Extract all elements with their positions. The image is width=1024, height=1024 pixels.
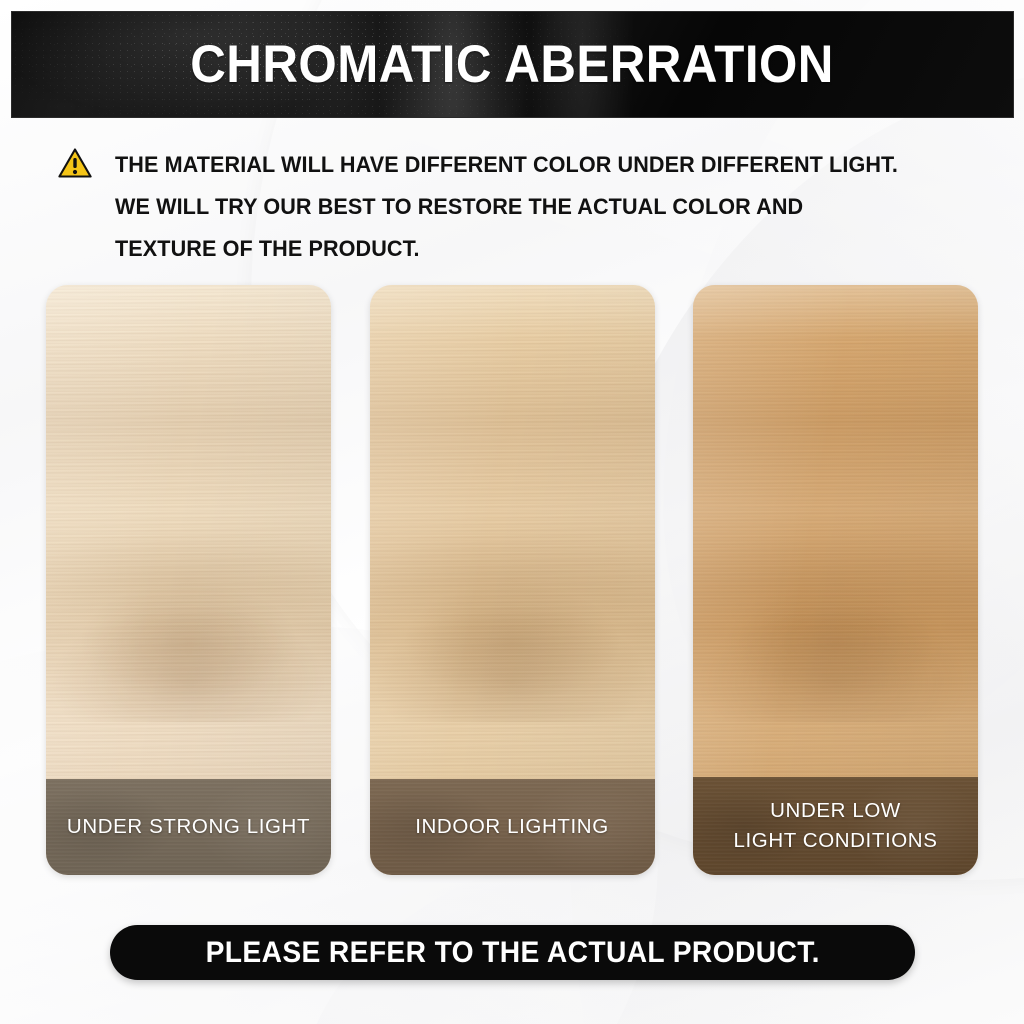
footer-callout-pill: PLEASE REFER TO THE ACTUAL PRODUCT. [110, 925, 915, 980]
notice-text: THE MATERIAL WILL HAVE DIFFERENT COLOR U… [115, 144, 931, 270]
notice-line-2: WE WILL TRY OUR BEST TO RESTORE THE ACTU… [115, 186, 898, 228]
warning-triangle-icon [58, 148, 92, 178]
notice-block: THE MATERIAL WILL HAVE DIFFERENT COLOR U… [58, 144, 978, 270]
wood-sample-panel-strong-light: UNDER STRONG LIGHT [46, 285, 331, 875]
page-title: CHROMATIC ABERRATION [191, 34, 835, 95]
wood-sample-panel-low-light: UNDER LOW LIGHT CONDITIONS [693, 285, 978, 875]
sample-label-band: UNDER LOW LIGHT CONDITIONS [693, 777, 978, 875]
footer-callout-text: PLEASE REFER TO THE ACTUAL PRODUCT. [205, 936, 819, 970]
sample-label-indoor-lighting: INDOOR LIGHTING [405, 812, 619, 842]
notice-line-1: THE MATERIAL WILL HAVE DIFFERENT COLOR U… [115, 144, 898, 186]
header-banner: CHROMATIC ABERRATION [11, 11, 1014, 118]
sample-label-band: INDOOR LIGHTING [370, 779, 655, 875]
sample-label-low-light: UNDER LOW LIGHT CONDITIONS [724, 796, 948, 856]
chromatic-aberration-infographic: CHROMATIC ABERRATION THE MATERIAL WILL H… [0, 0, 1024, 1024]
sample-label-strong-light: UNDER STRONG LIGHT [57, 812, 320, 842]
sample-label-band: UNDER STRONG LIGHT [46, 779, 331, 875]
notice-line-3: TEXTURE OF THE PRODUCT. [115, 228, 898, 270]
wood-sample-panel-indoor-lighting: INDOOR LIGHTING [370, 285, 655, 875]
wood-sample-panels: UNDER STRONG LIGHT INDOOR LIGHTING [46, 285, 978, 875]
